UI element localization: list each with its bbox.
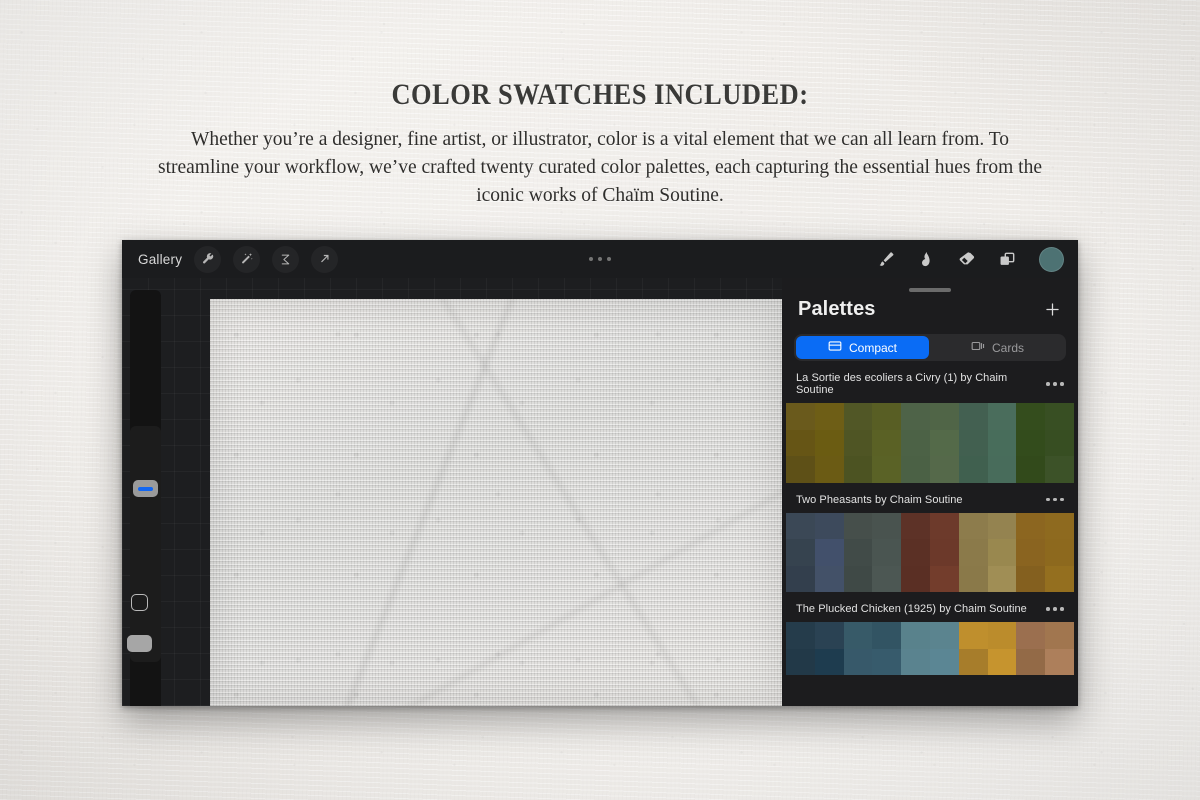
color-swatch[interactable] xyxy=(872,403,901,430)
modify-button[interactable] xyxy=(131,594,148,611)
color-swatch[interactable] xyxy=(901,566,930,593)
procreate-app-window: Gallery xyxy=(122,240,1078,706)
view-mode-segment: Compact Cards xyxy=(794,334,1066,361)
palette-options-button[interactable] xyxy=(1046,498,1064,502)
color-swatch[interactable] xyxy=(844,513,873,540)
dot xyxy=(1060,498,1064,502)
color-swatch[interactable] xyxy=(901,513,930,540)
color-swatch[interactable] xyxy=(786,456,815,483)
palette-name: The Plucked Chicken (1925) by Chaim Sout… xyxy=(796,603,1027,615)
palette-group: La Sortie des ecoliers a Civry (1) by Ch… xyxy=(782,363,1078,483)
color-swatch[interactable] xyxy=(844,456,873,483)
eraser-icon[interactable] xyxy=(957,250,976,269)
color-swatch[interactable] xyxy=(872,622,901,649)
color-swatch[interactable] xyxy=(786,622,815,649)
color-swatch[interactable] xyxy=(1045,513,1074,540)
color-swatch[interactable] xyxy=(959,513,988,540)
color-swatch[interactable] xyxy=(815,513,844,540)
color-swatch[interactable] xyxy=(1045,566,1074,593)
color-swatch[interactable] xyxy=(930,649,959,676)
view-mode-compact-label: Compact xyxy=(849,341,897,355)
dot xyxy=(1046,607,1050,611)
color-swatch[interactable] xyxy=(872,456,901,483)
palettes-panel: Palettes Compact Cards La Sortie des eco… xyxy=(782,278,1078,706)
color-swatch[interactable] xyxy=(786,566,815,593)
layers-icon[interactable] xyxy=(998,250,1017,269)
color-swatch[interactable] xyxy=(959,649,988,676)
color-swatch[interactable] xyxy=(901,456,930,483)
color-swatch[interactable] xyxy=(959,539,988,566)
color-swatch[interactable] xyxy=(1045,622,1074,649)
color-swatch[interactable] xyxy=(1016,649,1045,676)
panel-bottom-fade xyxy=(782,696,1078,706)
color-swatch[interactable] xyxy=(988,513,1017,540)
brush-size-slider[interactable] xyxy=(130,426,161,662)
toolbar-right-group xyxy=(876,240,1064,278)
color-swatch[interactable] xyxy=(815,430,844,457)
page-title: COLOR SWATCHES INCLUDED: xyxy=(72,78,1128,112)
palette-options-button[interactable] xyxy=(1046,607,1064,611)
color-swatch[interactable] xyxy=(815,566,844,593)
color-swatch[interactable] xyxy=(1045,539,1074,566)
color-swatch[interactable] xyxy=(901,539,930,566)
color-swatch[interactable] xyxy=(1016,456,1045,483)
color-swatch[interactable] xyxy=(1045,649,1074,676)
color-swatch[interactable] xyxy=(786,539,815,566)
color-swatch[interactable] xyxy=(815,539,844,566)
color-swatch[interactable] xyxy=(872,539,901,566)
color-swatch[interactable] xyxy=(844,649,873,676)
wrench-icon[interactable] xyxy=(194,246,221,273)
palette-group: The Plucked Chicken (1925) by Chaim Sout… xyxy=(782,594,1078,675)
color-swatch[interactable] xyxy=(786,649,815,676)
brush-size-slider-handle[interactable] xyxy=(133,480,158,497)
color-swatch[interactable] xyxy=(872,430,901,457)
toolbar-more-options[interactable] xyxy=(589,257,611,261)
color-swatch[interactable] xyxy=(901,649,930,676)
color-swatch[interactable] xyxy=(844,539,873,566)
color-swatch[interactable] xyxy=(959,456,988,483)
color-swatch[interactable] xyxy=(930,566,959,593)
color-swatch[interactable] xyxy=(872,513,901,540)
color-swatch[interactable] xyxy=(815,403,844,430)
color-swatch[interactable] xyxy=(1045,430,1074,457)
swatch-grid xyxy=(786,622,1074,675)
brush-icon[interactable] xyxy=(876,250,895,269)
color-swatch[interactable] xyxy=(844,430,873,457)
color-swatch[interactable] xyxy=(988,456,1017,483)
color-swatch[interactable] xyxy=(930,513,959,540)
color-swatch[interactable] xyxy=(786,403,815,430)
palette-list[interactable]: La Sortie des ecoliers a Civry (1) by Ch… xyxy=(782,363,1078,675)
canvas-region[interactable] xyxy=(122,278,782,706)
color-swatch[interactable] xyxy=(1016,513,1045,540)
palette-header: La Sortie des ecoliers a Civry (1) by Ch… xyxy=(782,363,1078,403)
color-swatch[interactable] xyxy=(959,403,988,430)
dot xyxy=(598,257,602,261)
view-mode-compact[interactable]: Compact xyxy=(796,336,929,359)
color-swatch[interactable] xyxy=(901,403,930,430)
undo-button[interactable] xyxy=(127,635,152,652)
dot xyxy=(1046,498,1050,502)
color-swatch[interactable] xyxy=(844,403,873,430)
panel-title: Palettes xyxy=(798,298,876,321)
view-mode-cards-label: Cards xyxy=(992,341,1024,355)
color-swatch[interactable] xyxy=(815,649,844,676)
swatch-grid xyxy=(786,513,1074,593)
color-swatch[interactable] xyxy=(1016,403,1045,430)
color-swatch[interactable] xyxy=(959,622,988,649)
color-swatch[interactable] xyxy=(988,566,1017,593)
dot xyxy=(1046,382,1050,386)
palette-header: Two Pheasants by Chaim Soutine xyxy=(782,485,1078,513)
color-swatch[interactable] xyxy=(1045,456,1074,483)
add-palette-button[interactable] xyxy=(1043,300,1062,319)
color-swatch-button[interactable] xyxy=(1039,247,1064,272)
selection-icon[interactable] xyxy=(272,246,299,273)
intro-paragraph: Whether you’re a designer, fine artist, … xyxy=(150,126,1050,210)
headline-block: COLOR SWATCHES INCLUDED: Whether you’re … xyxy=(0,78,1200,210)
panel-header: Palettes xyxy=(782,292,1078,321)
palette-group: Two Pheasants by Chaim Soutine xyxy=(782,485,1078,593)
color-swatch[interactable] xyxy=(844,622,873,649)
artboard-canvas[interactable] xyxy=(210,299,782,706)
color-swatch[interactable] xyxy=(988,430,1017,457)
dot xyxy=(589,257,593,261)
color-swatch[interactable] xyxy=(815,622,844,649)
color-swatch[interactable] xyxy=(930,539,959,566)
app-toolbar: Gallery xyxy=(122,240,1078,278)
magic-wand-icon[interactable] xyxy=(233,246,260,273)
color-swatch[interactable] xyxy=(901,430,930,457)
color-swatch[interactable] xyxy=(1016,430,1045,457)
color-swatch[interactable] xyxy=(930,430,959,457)
color-swatch[interactable] xyxy=(988,649,1017,676)
compact-view-icon xyxy=(828,340,842,355)
swatch-grid xyxy=(786,403,1074,483)
color-swatch[interactable] xyxy=(872,649,901,676)
dot xyxy=(1060,607,1064,611)
cards-view-icon xyxy=(971,340,985,355)
palette-options-button[interactable] xyxy=(1046,382,1064,386)
dot xyxy=(1060,382,1064,386)
dot xyxy=(1053,498,1057,502)
arrow-transform-icon[interactable] xyxy=(311,246,338,273)
dot xyxy=(1053,607,1057,611)
dot xyxy=(1053,382,1057,386)
color-swatch[interactable] xyxy=(930,403,959,430)
dot xyxy=(607,257,611,261)
gallery-button[interactable]: Gallery xyxy=(138,252,182,267)
color-swatch[interactable] xyxy=(1045,403,1074,430)
color-swatch[interactable] xyxy=(988,403,1017,430)
view-mode-cards[interactable]: Cards xyxy=(931,336,1064,359)
palette-name: Two Pheasants by Chaim Soutine xyxy=(796,494,963,506)
smudge-icon[interactable] xyxy=(917,250,935,268)
color-swatch[interactable] xyxy=(930,456,959,483)
color-swatch[interactable] xyxy=(815,456,844,483)
palette-name: La Sortie des ecoliers a Civry (1) by Ch… xyxy=(796,372,1046,396)
color-swatch[interactable] xyxy=(959,430,988,457)
color-swatch[interactable] xyxy=(930,622,959,649)
color-swatch[interactable] xyxy=(901,622,930,649)
color-swatch[interactable] xyxy=(1016,539,1045,566)
color-swatch[interactable] xyxy=(1016,566,1045,593)
palette-header: The Plucked Chicken (1925) by Chaim Sout… xyxy=(782,594,1078,622)
color-swatch[interactable] xyxy=(786,513,815,540)
color-swatch[interactable] xyxy=(959,566,988,593)
color-swatch[interactable] xyxy=(988,539,1017,566)
color-swatch[interactable] xyxy=(872,566,901,593)
color-swatch[interactable] xyxy=(844,566,873,593)
color-swatch[interactable] xyxy=(988,622,1017,649)
color-swatch[interactable] xyxy=(1016,622,1045,649)
color-swatch[interactable] xyxy=(786,430,815,457)
